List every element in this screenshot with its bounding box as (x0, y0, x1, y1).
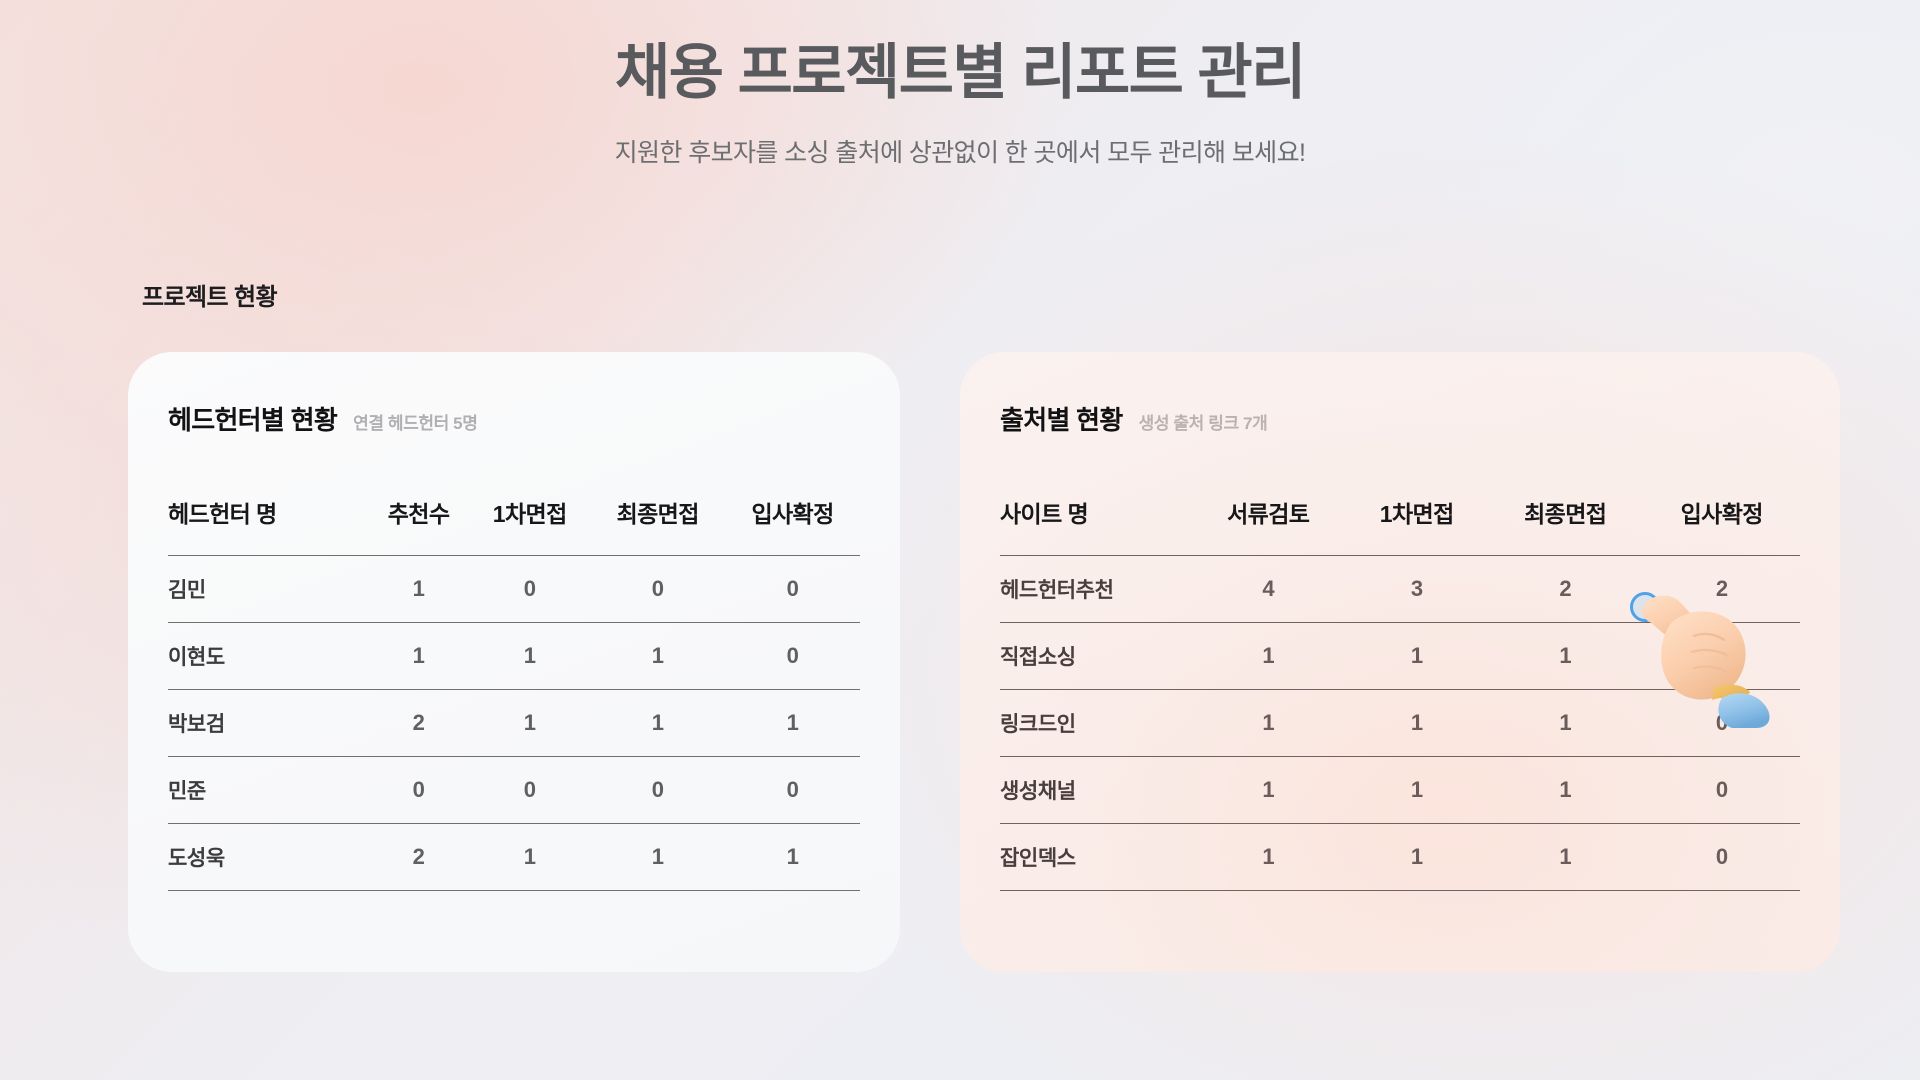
table-head: 사이트 명 서류검토 1차면접 최종면접 입사확정 (1000, 495, 1800, 556)
cell-value: 3 (1346, 556, 1487, 623)
column-header: 입사확정 (725, 495, 860, 556)
column-header: 사이트 명 (1000, 495, 1190, 556)
cell-value: 1 (1190, 623, 1346, 690)
cell-value: 1 (1487, 623, 1643, 690)
column-header: 헤드헌터 명 (168, 495, 368, 556)
row-label: 도성욱 (168, 824, 368, 891)
cell-value: 1 (1487, 690, 1643, 757)
cell-value: 1 (469, 690, 590, 757)
cell-value: 0 (469, 757, 590, 824)
cell-value: 0 (1643, 824, 1800, 891)
cell-value: 2 (368, 690, 469, 757)
cell-value: 0 (469, 556, 590, 623)
cell-value: 1 (1190, 690, 1346, 757)
table-row[interactable]: 도성욱 2 1 1 1 (168, 824, 860, 891)
card-header: 헤드헌터별 현황 연결 헤드헌터 5명 (128, 352, 900, 437)
pointing-hand-cursor-icon (1636, 588, 1796, 728)
table-row[interactable]: 생성채널 1 1 1 0 (1000, 757, 1800, 824)
table-row[interactable]: 민준 0 0 0 0 (168, 757, 860, 824)
cell-value: 1 (590, 824, 725, 891)
cell-value: 1 (469, 824, 590, 891)
cell-value: 1 (1346, 757, 1487, 824)
row-label: 직접소싱 (1000, 623, 1190, 690)
cell-value: 1 (1346, 824, 1487, 891)
row-label: 김민 (168, 556, 368, 623)
column-header: 1차면접 (1346, 495, 1487, 556)
cell-value: 1 (1346, 690, 1487, 757)
cell-value: 1 (590, 690, 725, 757)
cell-value: 0 (1643, 757, 1800, 824)
cell-value: 1 (1346, 623, 1487, 690)
table-header-row: 사이트 명 서류검토 1차면접 최종면접 입사확정 (1000, 495, 1800, 556)
report-page: 채용 프로젝트별 리포트 관리 지원한 후보자를 소싱 출처에 상관없이 한 곳… (0, 0, 1920, 1080)
cell-value: 2 (368, 824, 469, 891)
cell-value: 1 (368, 623, 469, 690)
cell-value: 0 (368, 757, 469, 824)
headhunter-table: 헤드헌터 명 추천수 1차면접 최종면접 입사확정 김민 1 0 0 0 (168, 495, 860, 891)
cell-value: 1 (1487, 757, 1643, 824)
card-meta-count: 연결 헤드헌터 5명 (353, 409, 477, 434)
cell-value: 0 (590, 757, 725, 824)
column-header: 추천수 (368, 495, 469, 556)
cell-value: 1 (1487, 824, 1643, 891)
table-row[interactable]: 이현도 1 1 1 0 (168, 623, 860, 690)
row-label: 박보검 (168, 690, 368, 757)
table-body: 김민 1 0 0 0 이현도 1 1 1 0 박보검 (168, 556, 860, 891)
cell-value: 1 (725, 824, 860, 891)
card-title: 출처별 현황 (1000, 400, 1123, 437)
cell-value: 0 (725, 623, 860, 690)
row-label: 링크드인 (1000, 690, 1190, 757)
card-title: 헤드헌터별 현황 (168, 400, 337, 437)
row-label: 생성채널 (1000, 757, 1190, 824)
cell-value: 1 (368, 556, 469, 623)
page-header: 채용 프로젝트별 리포트 관리 지원한 후보자를 소싱 출처에 상관없이 한 곳… (0, 38, 1920, 169)
cell-value: 0 (725, 757, 860, 824)
column-header: 최종면접 (590, 495, 725, 556)
table-header-row: 헤드헌터 명 추천수 1차면접 최종면접 입사확정 (168, 495, 860, 556)
cell-value: 1 (590, 623, 725, 690)
cell-value: 1 (1190, 824, 1346, 891)
section-label-project-status: 프로젝트 현황 (142, 277, 277, 312)
page-subtitle: 지원한 후보자를 소싱 출처에 상관없이 한 곳에서 모두 관리해 보세요! (0, 133, 1920, 169)
table-wrapper: 헤드헌터 명 추천수 1차면접 최종면접 입사확정 김민 1 0 0 0 (128, 495, 900, 891)
page-title: 채용 프로젝트별 리포트 관리 (0, 38, 1920, 109)
column-header: 서류검토 (1190, 495, 1346, 556)
row-label: 헤드헌터추천 (1000, 556, 1190, 623)
cell-value: 1 (469, 623, 590, 690)
table-head: 헤드헌터 명 추천수 1차면접 최종면접 입사확정 (168, 495, 860, 556)
row-label: 잡인덱스 (1000, 824, 1190, 891)
table-row[interactable]: 잡인덱스 1 1 1 0 (1000, 824, 1800, 891)
row-label: 민준 (168, 757, 368, 824)
column-header: 최종면접 (1487, 495, 1643, 556)
card-meta-count: 생성 출처 링크 7개 (1139, 409, 1268, 434)
cell-value: 0 (725, 556, 860, 623)
cell-value: 1 (1190, 757, 1346, 824)
card-headhunter-status: 헤드헌터별 현황 연결 헤드헌터 5명 헤드헌터 명 추천수 1차면접 최종면접… (128, 352, 900, 972)
row-label: 이현도 (168, 623, 368, 690)
cell-value: 2 (1487, 556, 1643, 623)
column-header: 1차면접 (469, 495, 590, 556)
table-row[interactable]: 김민 1 0 0 0 (168, 556, 860, 623)
table-row[interactable]: 박보검 2 1 1 1 (168, 690, 860, 757)
cell-value: 1 (725, 690, 860, 757)
card-header: 출처별 현황 생성 출처 링크 7개 (960, 352, 1840, 437)
cell-value: 0 (590, 556, 725, 623)
cell-value: 4 (1190, 556, 1346, 623)
column-header: 입사확정 (1643, 495, 1800, 556)
